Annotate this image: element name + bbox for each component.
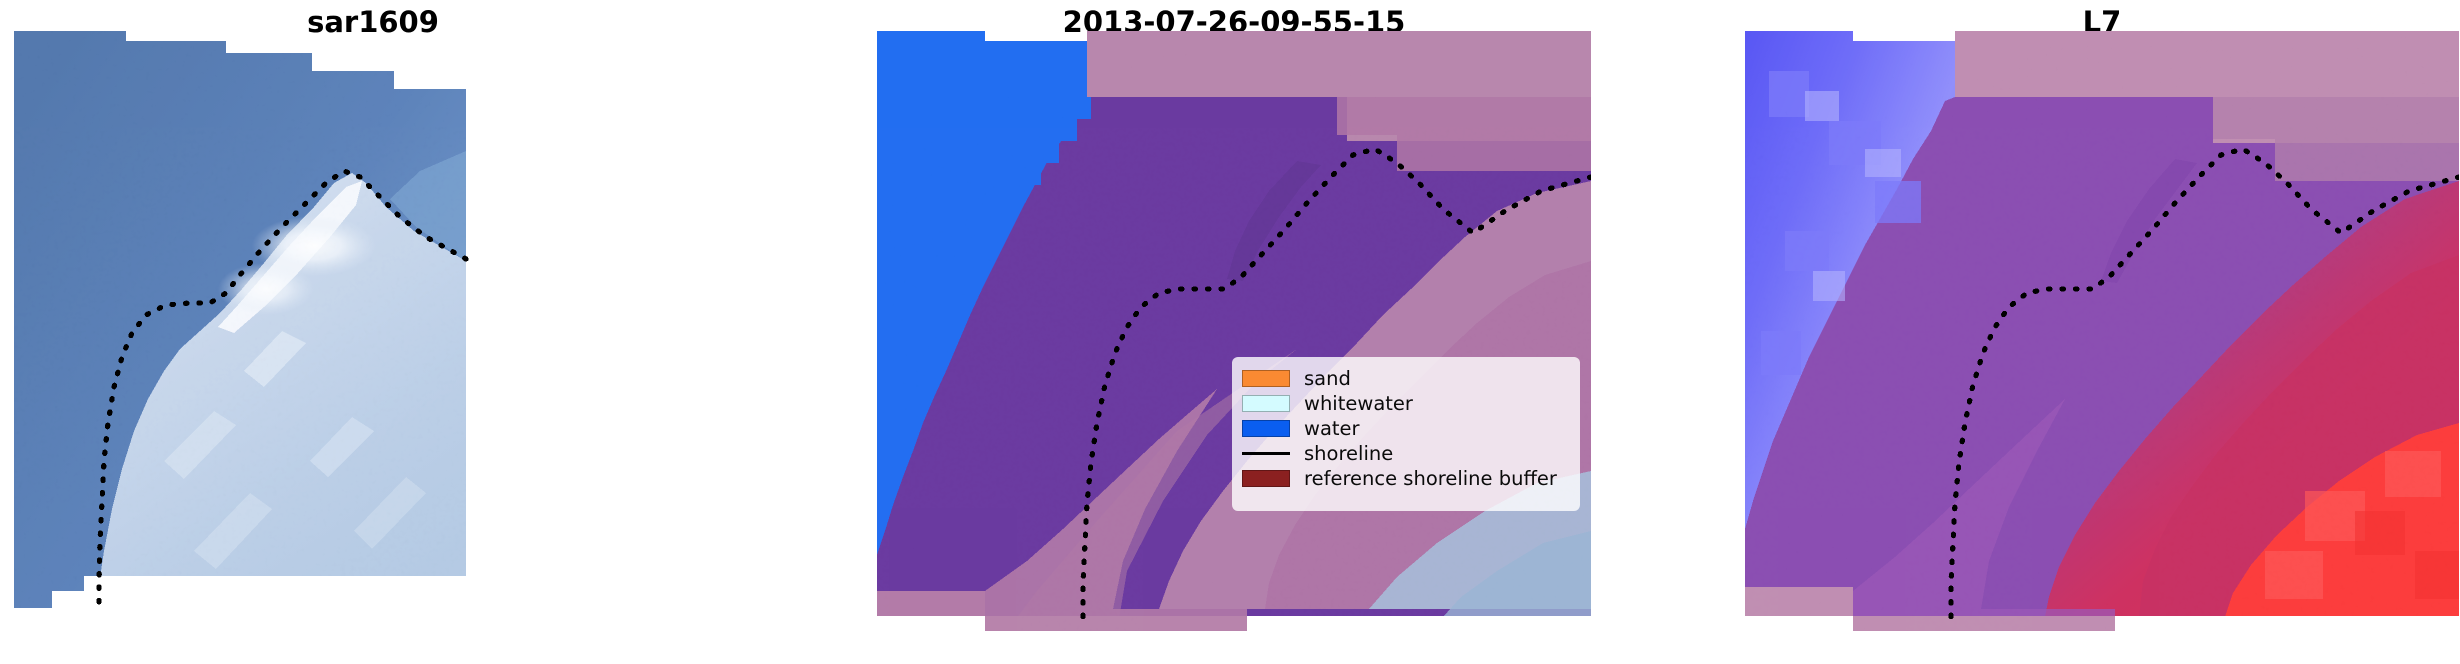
- figure-canvas: sar1609: [0, 0, 2460, 664]
- panel-sar1609: sar1609: [14, 0, 732, 664]
- legend-swatch-water: [1242, 420, 1290, 437]
- legend-item: water: [1242, 416, 1569, 441]
- legend-swatch-whitewater: [1242, 395, 1290, 412]
- legend-label-water: water: [1304, 419, 1360, 438]
- legend: sand whitewater water shoreline referenc…: [1232, 357, 1580, 511]
- legend-item: reference shoreline buffer: [1242, 466, 1569, 491]
- legend-label-reference-shoreline-buffer: reference shoreline buffer: [1304, 469, 1557, 488]
- legend-swatch-reference-shoreline-buffer: [1242, 470, 1290, 487]
- legend-item: sand: [1242, 366, 1569, 391]
- legend-label-sand: sand: [1304, 369, 1351, 388]
- panel-l7-image: [1745, 31, 2459, 664]
- panel-sar1609-image: [14, 31, 732, 664]
- panel-classified-image: [877, 31, 1591, 664]
- legend-label-whitewater: whitewater: [1304, 394, 1413, 413]
- legend-item: shoreline: [1242, 441, 1569, 466]
- legend-item: whitewater: [1242, 391, 1569, 416]
- panel-classified: 2013-07-26-09-55-15: [877, 0, 1591, 664]
- legend-label-shoreline: shoreline: [1304, 444, 1393, 463]
- legend-swatch-shoreline: [1242, 445, 1290, 462]
- legend-swatch-sand: [1242, 370, 1290, 387]
- panel-l7: L7: [1745, 0, 2459, 664]
